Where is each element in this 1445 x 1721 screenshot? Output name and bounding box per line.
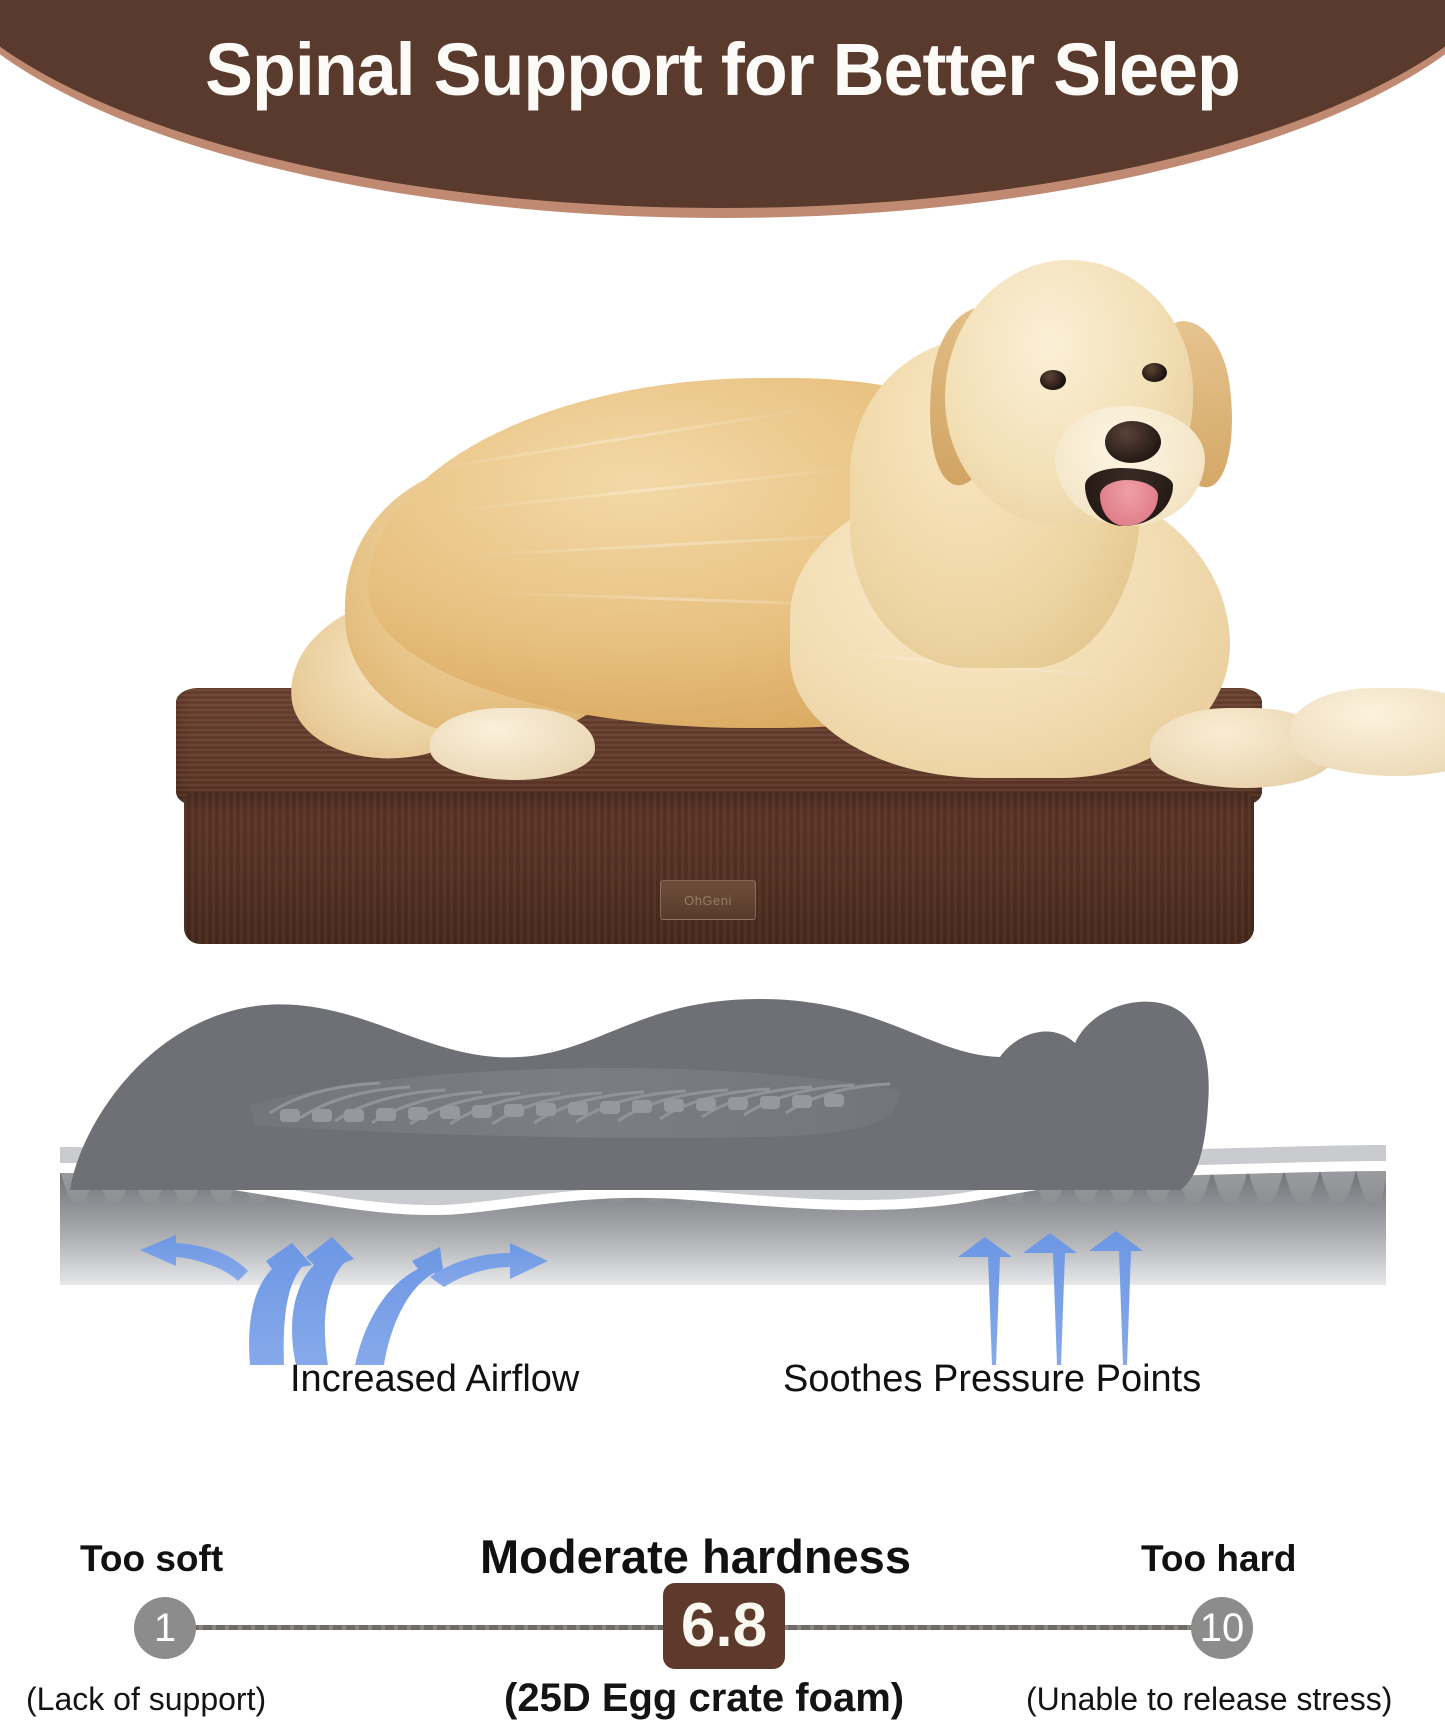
- scale-note-min: (Lack of support): [26, 1681, 266, 1718]
- dog-photo: [150, 228, 1300, 788]
- dog-silhouette: [70, 999, 1209, 1190]
- product-photo: OhGeni: [0, 218, 1445, 763]
- caption-increased-airflow: Increased Airflow: [290, 1358, 579, 1401]
- scale-note-max: (Unable to release stress): [1026, 1681, 1392, 1718]
- foam-cross-section-diagram: [0, 985, 1445, 1365]
- hardness-scale: Too soft Moderate hardness Too hard 1 10…: [0, 763, 1445, 973]
- scale-note-center: (25D Egg crate foam): [504, 1676, 904, 1721]
- dog-eye-left: [1040, 370, 1066, 390]
- header-banner: Spinal Support for Better Sleep: [0, 0, 1445, 232]
- bottom-captions: Increased Airflow Soothes Pressure Point…: [0, 1358, 1445, 1418]
- scale-label-center: Moderate hardness: [480, 1529, 911, 1584]
- caption-soothes-pressure-points: Soothes Pressure Points: [783, 1358, 1201, 1401]
- scale-label-max: Too hard: [1141, 1538, 1297, 1580]
- scale-endpoint-min: 1: [134, 1597, 196, 1659]
- page-title: Spinal Support for Better Sleep: [22, 33, 1424, 107]
- scale-label-min: Too soft: [80, 1538, 223, 1580]
- scale-endpoint-max: 10: [1191, 1597, 1253, 1659]
- hardness-rating-badge: 6.8: [663, 1583, 785, 1669]
- dog-eye-right: [1142, 363, 1167, 382]
